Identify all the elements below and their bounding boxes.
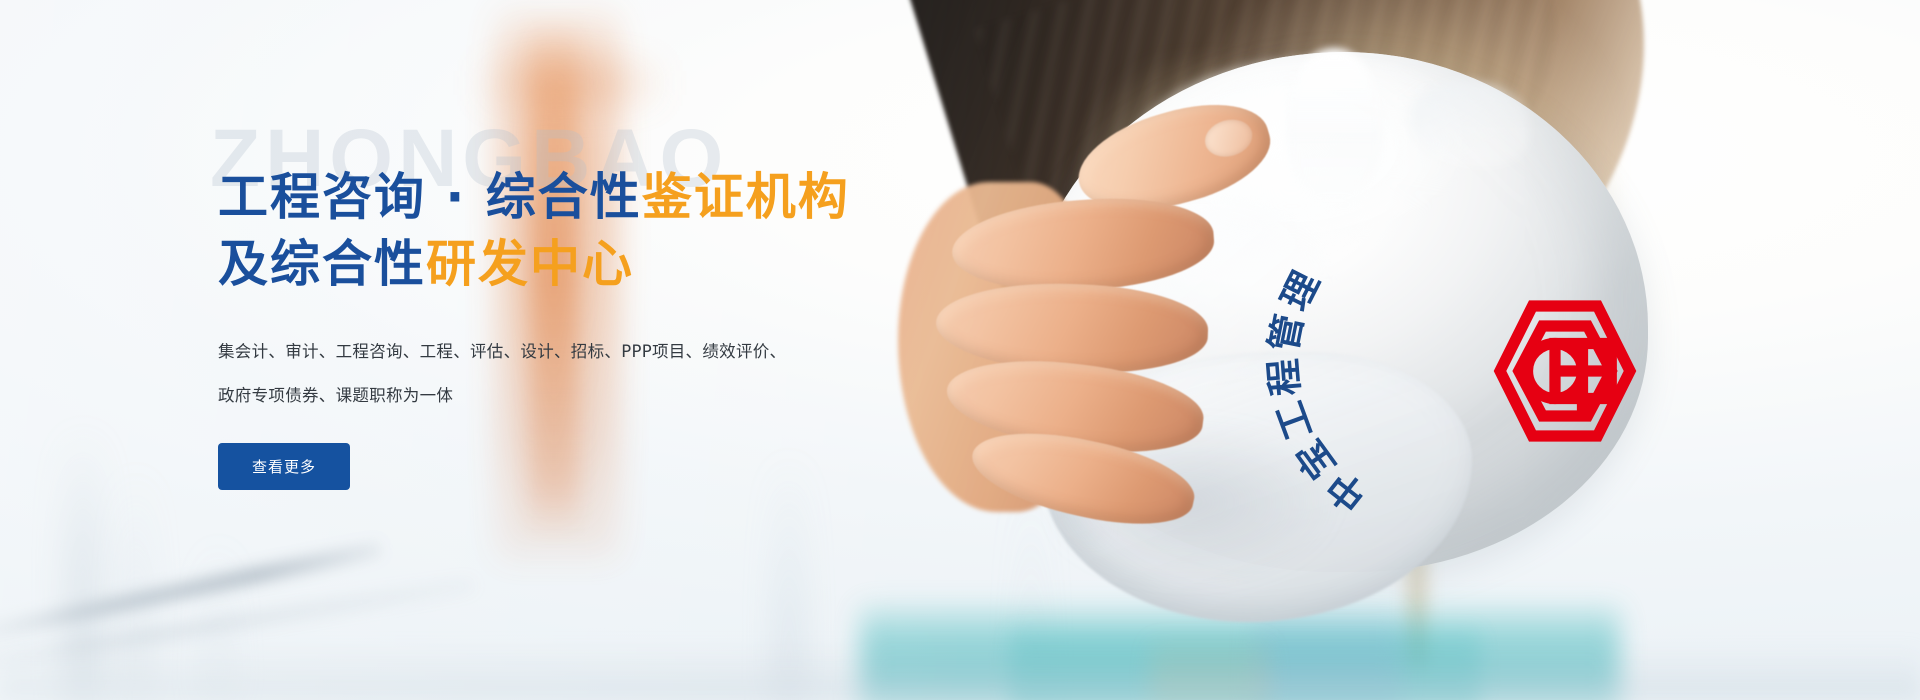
view-more-button[interactable]: 查看更多: [218, 443, 350, 490]
hero-banner: 中宝工程管理: [0, 0, 1920, 700]
headline-line-2-accent: 研发中心: [426, 235, 634, 293]
crane-jib-blur: [470, 60, 670, 106]
headline-line-1-accent: 鉴证机构: [642, 168, 850, 226]
headline-line-1-primary: 工程咨询 · 综合性: [218, 168, 642, 226]
headline-line-1: 工程咨询 · 综合性鉴证机构: [218, 164, 978, 231]
thumb-nail: [1201, 114, 1257, 162]
hero-content: ZHONGBAO 工程咨询 · 综合性鉴证机构 及综合性研发中心 集会计、审计、…: [218, 118, 978, 490]
description-line-1: 集会计、审计、工程咨询、工程、评估、设计、招标、PPP项目、绩效评价、: [218, 330, 978, 374]
headline-line-2: 及综合性研发中心: [218, 231, 978, 298]
headline-line-2-primary: 及综合性: [218, 235, 426, 293]
headline: 工程咨询 · 综合性鉴证机构 及综合性研发中心: [218, 118, 978, 298]
helmet-brandmark: 中宝工程管理: [1354, 200, 1644, 530]
hero-description: 集会计、审计、工程咨询、工程、评估、设计、招标、PPP项目、绩效评价、 政府专项…: [218, 330, 978, 417]
zhongbao-hex-logo-icon: [1490, 296, 1640, 446]
description-line-2: 政府专项债券、课题职称为一体: [218, 374, 978, 418]
